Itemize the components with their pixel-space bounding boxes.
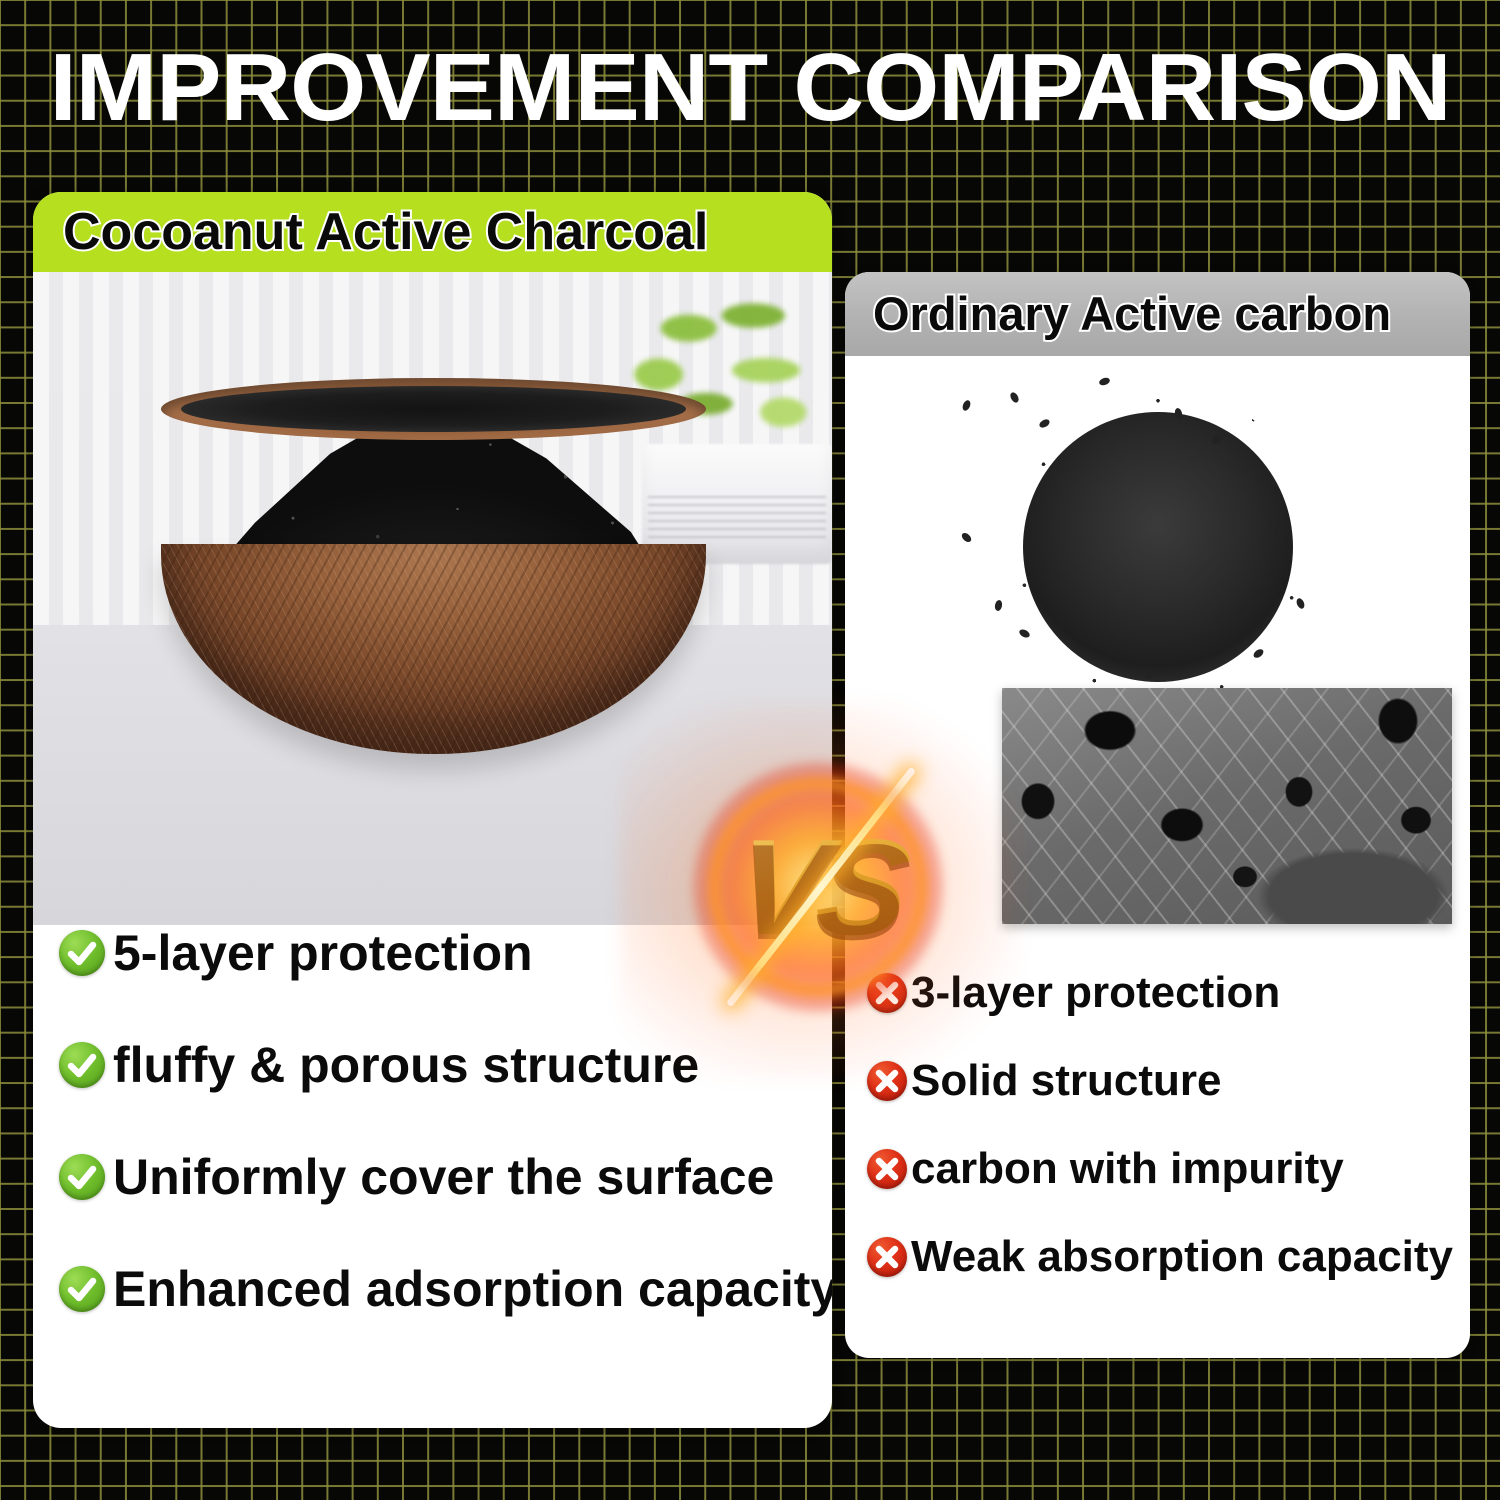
granule-speck [960,531,973,544]
green-check-icon [59,1266,105,1312]
list-item: Uniformly cover the surface [59,1149,806,1205]
coconut-shell [161,544,706,754]
product-photo-cocoanut [33,272,832,925]
red-cross-icon [867,1237,907,1277]
list-item: fluffy & porous structure [59,1037,806,1093]
red-cross-icon [867,1149,907,1189]
green-check-icon [59,1154,105,1200]
feature-label: Weak absorption capacity [911,1232,1453,1282]
coconut-shell-bowl [161,394,706,754]
card-header-cocoanut-label: Cocoanut Active Charcoal [63,205,708,259]
feature-label: fluffy & porous structure [113,1037,699,1093]
list-item: Enhanced adsorption capacity [59,1261,806,1317]
granule-speck [1009,391,1021,404]
comparison-card-ordinary: Ordinary Active carbon [845,272,1470,1358]
granule-speck [961,399,972,412]
list-item: Weak absorption capacity [867,1232,1448,1282]
card-header-ordinary-label: Ordinary Active carbon [873,289,1391,339]
sem-solid-texture [1002,688,1452,924]
list-item: 3-layer protection [867,968,1448,1018]
list-item: 5-layer protection [59,925,806,981]
ordinary-carbon-granule-pile [1023,412,1293,682]
comparison-infographic: IMPROVEMENT COMPARISON Ordinary Active c… [0,0,1500,1500]
list-item: Solid structure [867,1056,1448,1106]
product-photo-ordinary [845,356,1470,968]
card-header-ordinary: Ordinary Active carbon [845,272,1470,356]
feature-label: 3-layer protection [911,968,1280,1018]
page-title: IMPROVEMENT COMPARISON [0,36,1500,140]
comparison-card-cocoanut: Cocoanut Active Charcoal [33,192,832,1428]
green-check-icon [59,930,105,976]
red-cross-icon [867,1061,907,1101]
list-item: carbon with impurity [867,1144,1448,1194]
feature-list-cocoanut: 5-layer protection fluffy & porous struc… [33,925,832,1317]
feature-label: Solid structure [911,1056,1222,1106]
sem-inset-ordinary [1002,688,1452,924]
green-check-icon [59,1042,105,1088]
red-cross-icon [867,973,907,1013]
feature-label: Uniformly cover the surface [113,1149,774,1205]
card-header-cocoanut: Cocoanut Active Charcoal [33,192,832,272]
feature-list-ordinary: 3-layer protection Solid structure carbo… [845,968,1470,1282]
granule-speck [1098,376,1111,386]
feature-label: Enhanced adsorption capacity [113,1261,832,1317]
coconut-shell-interior [181,386,686,432]
feature-label: carbon with impurity [911,1144,1344,1194]
granule-speck [994,599,1003,611]
granule-speck [1038,418,1051,430]
coconut-fiber-texture [161,544,706,754]
feature-label: 5-layer protection [113,925,533,981]
